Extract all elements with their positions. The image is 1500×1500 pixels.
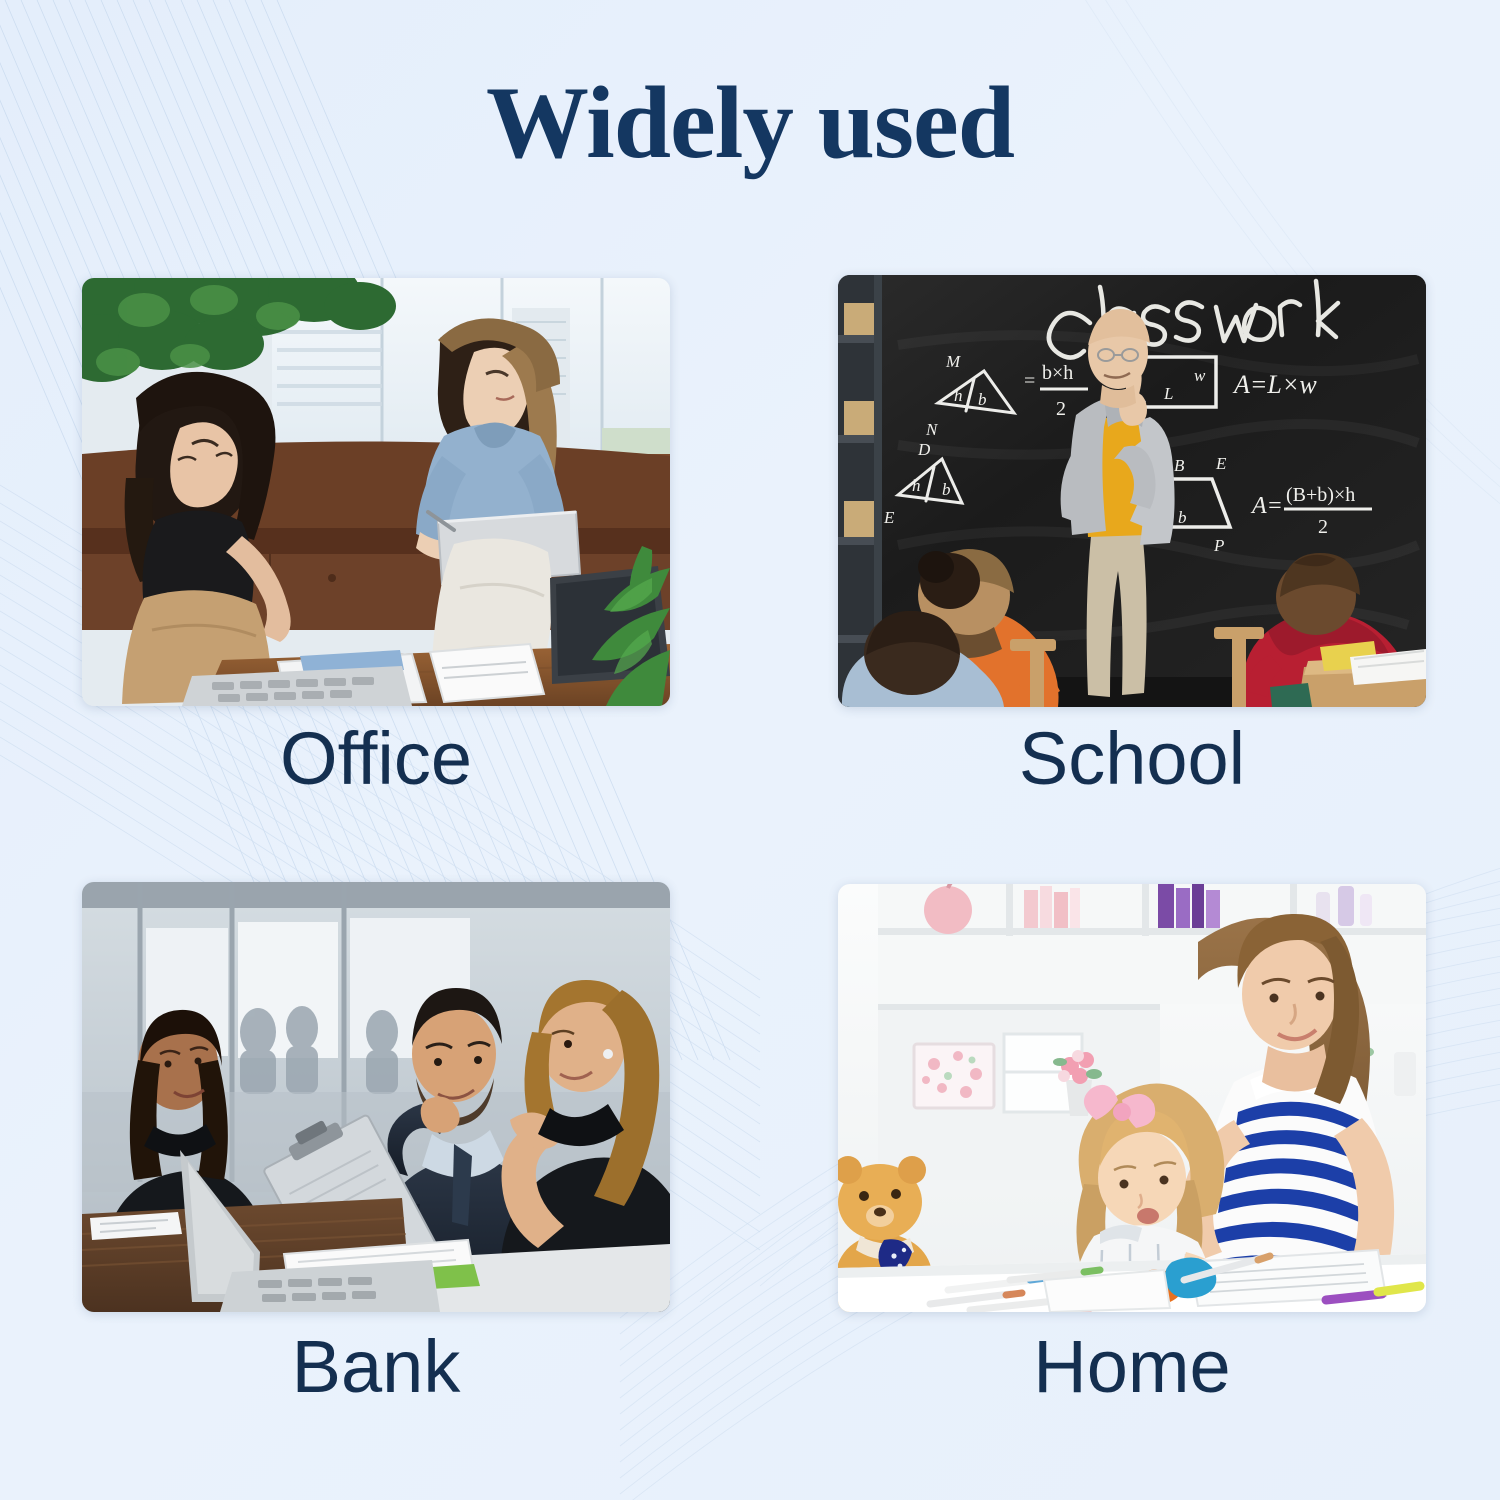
svg-text:2: 2 <box>1318 516 1328 538</box>
svg-text:b: b <box>978 390 987 409</box>
caption-home: Home <box>838 1330 1426 1404</box>
page-title: Widely used <box>0 72 1500 175</box>
svg-text:2: 2 <box>1056 398 1066 420</box>
svg-text:h: h <box>954 386 963 405</box>
svg-text:M: M <box>945 352 961 371</box>
svg-text:h: h <box>912 476 921 495</box>
svg-text:B: B <box>1174 456 1185 475</box>
svg-text:E: E <box>1215 454 1227 473</box>
svg-text:(B+b)×h: (B+b)×h <box>1286 484 1355 506</box>
caption-bank: Bank <box>82 1330 670 1404</box>
svg-text:b: b <box>1178 508 1187 527</box>
caption-school: School <box>838 722 1426 796</box>
svg-text:E: E <box>883 508 895 527</box>
svg-text:w: w <box>1194 366 1206 385</box>
svg-text:D: D <box>917 440 931 459</box>
card-office <box>82 278 670 706</box>
svg-text:A=L×w: A=L×w <box>1232 370 1317 399</box>
svg-text:A=: A= <box>1250 493 1283 519</box>
svg-text:N: N <box>925 420 939 439</box>
svg-text:b: b <box>942 480 951 499</box>
svg-text:P: P <box>1213 536 1224 555</box>
card-bank <box>82 882 670 1312</box>
card-school: Mhb N = b×h 2 Lw A=L×w <box>838 275 1426 707</box>
caption-office: Office <box>82 722 670 796</box>
infographic-page: Widely used <box>0 0 1500 1500</box>
svg-text:L: L <box>1163 384 1173 403</box>
svg-text:b×h: b×h <box>1042 362 1073 384</box>
svg-text:=: = <box>1024 370 1035 392</box>
card-home <box>838 884 1426 1312</box>
